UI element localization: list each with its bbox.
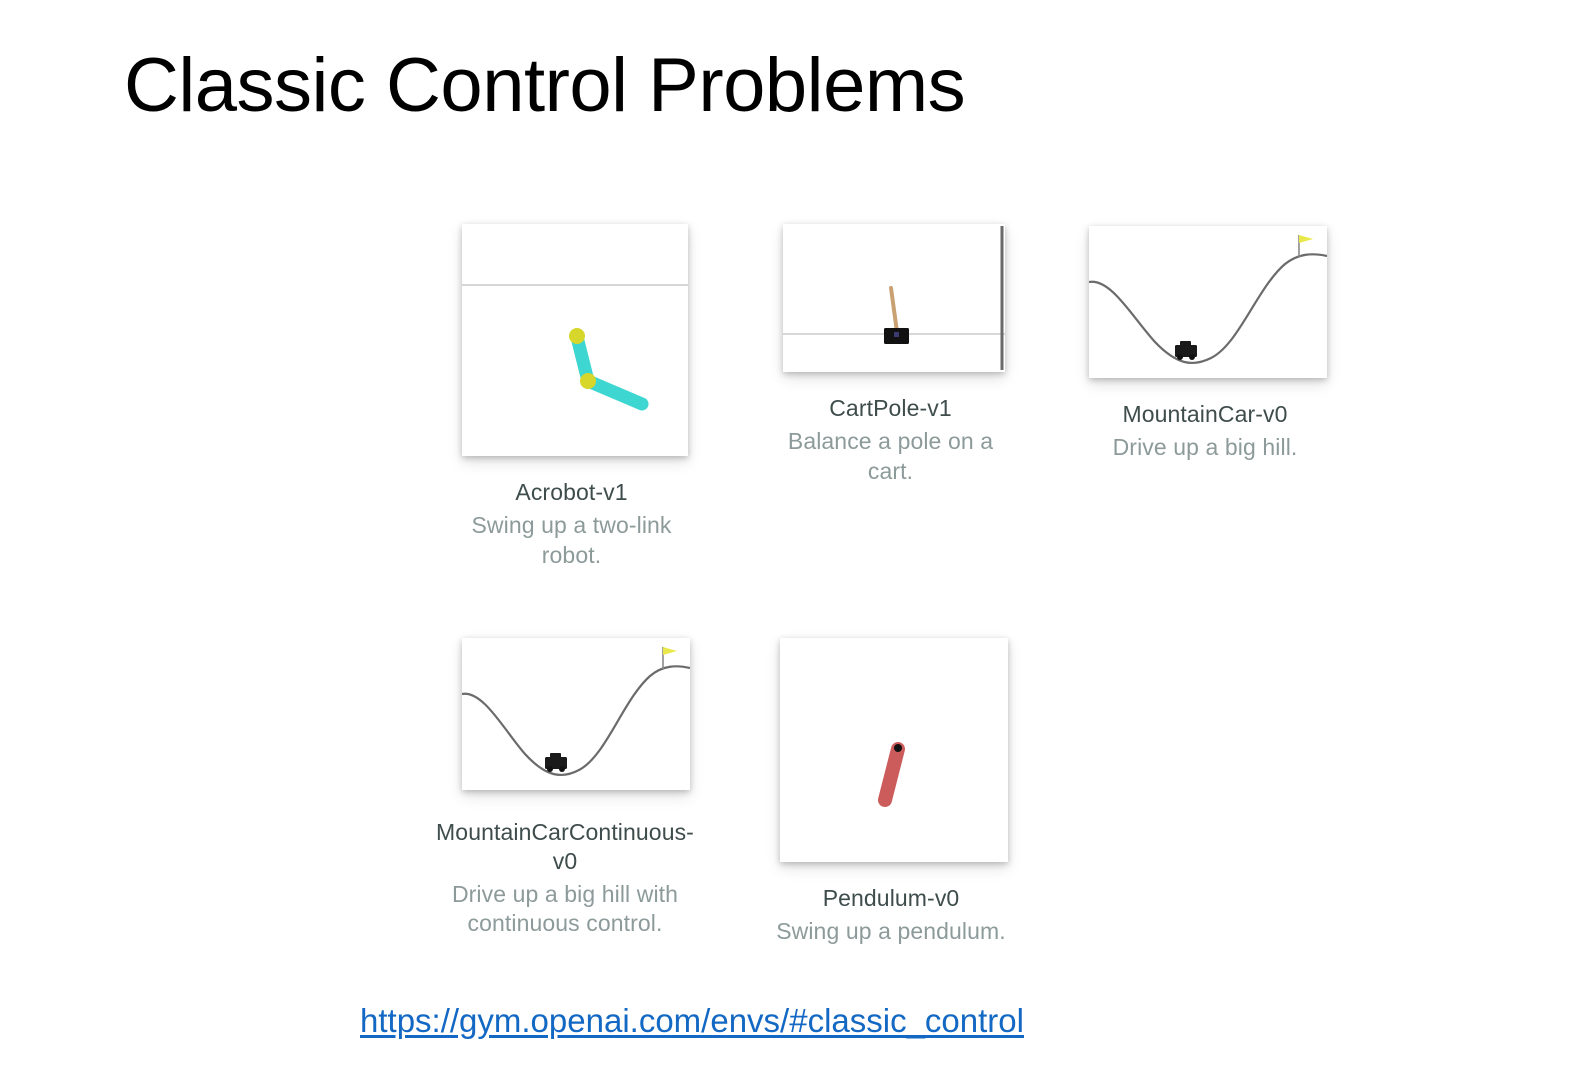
source-link[interactable]: https://gym.openai.com/envs/#classic_con… xyxy=(360,1002,1024,1040)
acrobot-caption: Acrobot-v1 Swing up a two-link robot. xyxy=(452,478,692,571)
env-description-cartpole: Balance a pole on a cart. xyxy=(773,427,1009,487)
env-description-mountaincarcontinuous: Drive up a big hill with continuous cont… xyxy=(429,880,701,940)
mountaincarcontinuous-caption: MountainCarContinuous-v0 Drive up a big … xyxy=(429,818,701,939)
env-name-acrobot: Acrobot-v1 xyxy=(452,478,692,507)
env-name-pendulum: Pendulum-v0 xyxy=(771,884,1011,913)
env-card-mountaincarcontinuous[interactable]: MountainCarContinuous-v0 Drive up a big … xyxy=(462,638,690,939)
mountaincar-caption: MountainCar-v0 Drive up a big hill. xyxy=(1080,400,1330,463)
cartpole-render-icon xyxy=(783,224,1005,372)
env-description-acrobot: Swing up a two-link robot. xyxy=(452,511,692,571)
cartpole-caption: CartPole-v1 Balance a pole on a cart. xyxy=(773,394,1009,487)
pendulum-render-icon xyxy=(780,638,1008,862)
env-name-cartpole: CartPole-v1 xyxy=(773,394,1009,423)
cartpole-thumbnail[interactable] xyxy=(783,224,1005,372)
acrobot-thumbnail[interactable] xyxy=(462,224,688,456)
env-card-pendulum[interactable]: Pendulum-v0 Swing up a pendulum. xyxy=(780,638,1008,947)
env-name-mountaincarcontinuous: MountainCarContinuous-v0 xyxy=(429,818,701,876)
env-card-acrobot[interactable]: Acrobot-v1 Swing up a two-link robot. xyxy=(462,224,688,571)
mountaincar-render-icon xyxy=(462,638,690,790)
env-description-mountaincar: Drive up a big hill. xyxy=(1080,433,1330,463)
mountaincar-thumbnail[interactable] xyxy=(1089,226,1327,378)
acrobot-render-icon xyxy=(462,224,688,456)
env-description-pendulum: Swing up a pendulum. xyxy=(771,917,1011,947)
mountaincar-render-icon xyxy=(1089,226,1327,378)
pendulum-thumbnail[interactable] xyxy=(780,638,1008,862)
mountaincarcontinuous-thumbnail[interactable] xyxy=(462,638,690,790)
env-card-cartpole[interactable]: CartPole-v1 Balance a pole on a cart. xyxy=(783,224,1005,487)
env-card-mountaincar[interactable]: MountainCar-v0 Drive up a big hill. xyxy=(1089,226,1327,463)
pendulum-caption: Pendulum-v0 Swing up a pendulum. xyxy=(771,884,1011,947)
page-title: Classic Control Problems xyxy=(124,46,965,126)
env-name-mountaincar: MountainCar-v0 xyxy=(1080,400,1330,429)
